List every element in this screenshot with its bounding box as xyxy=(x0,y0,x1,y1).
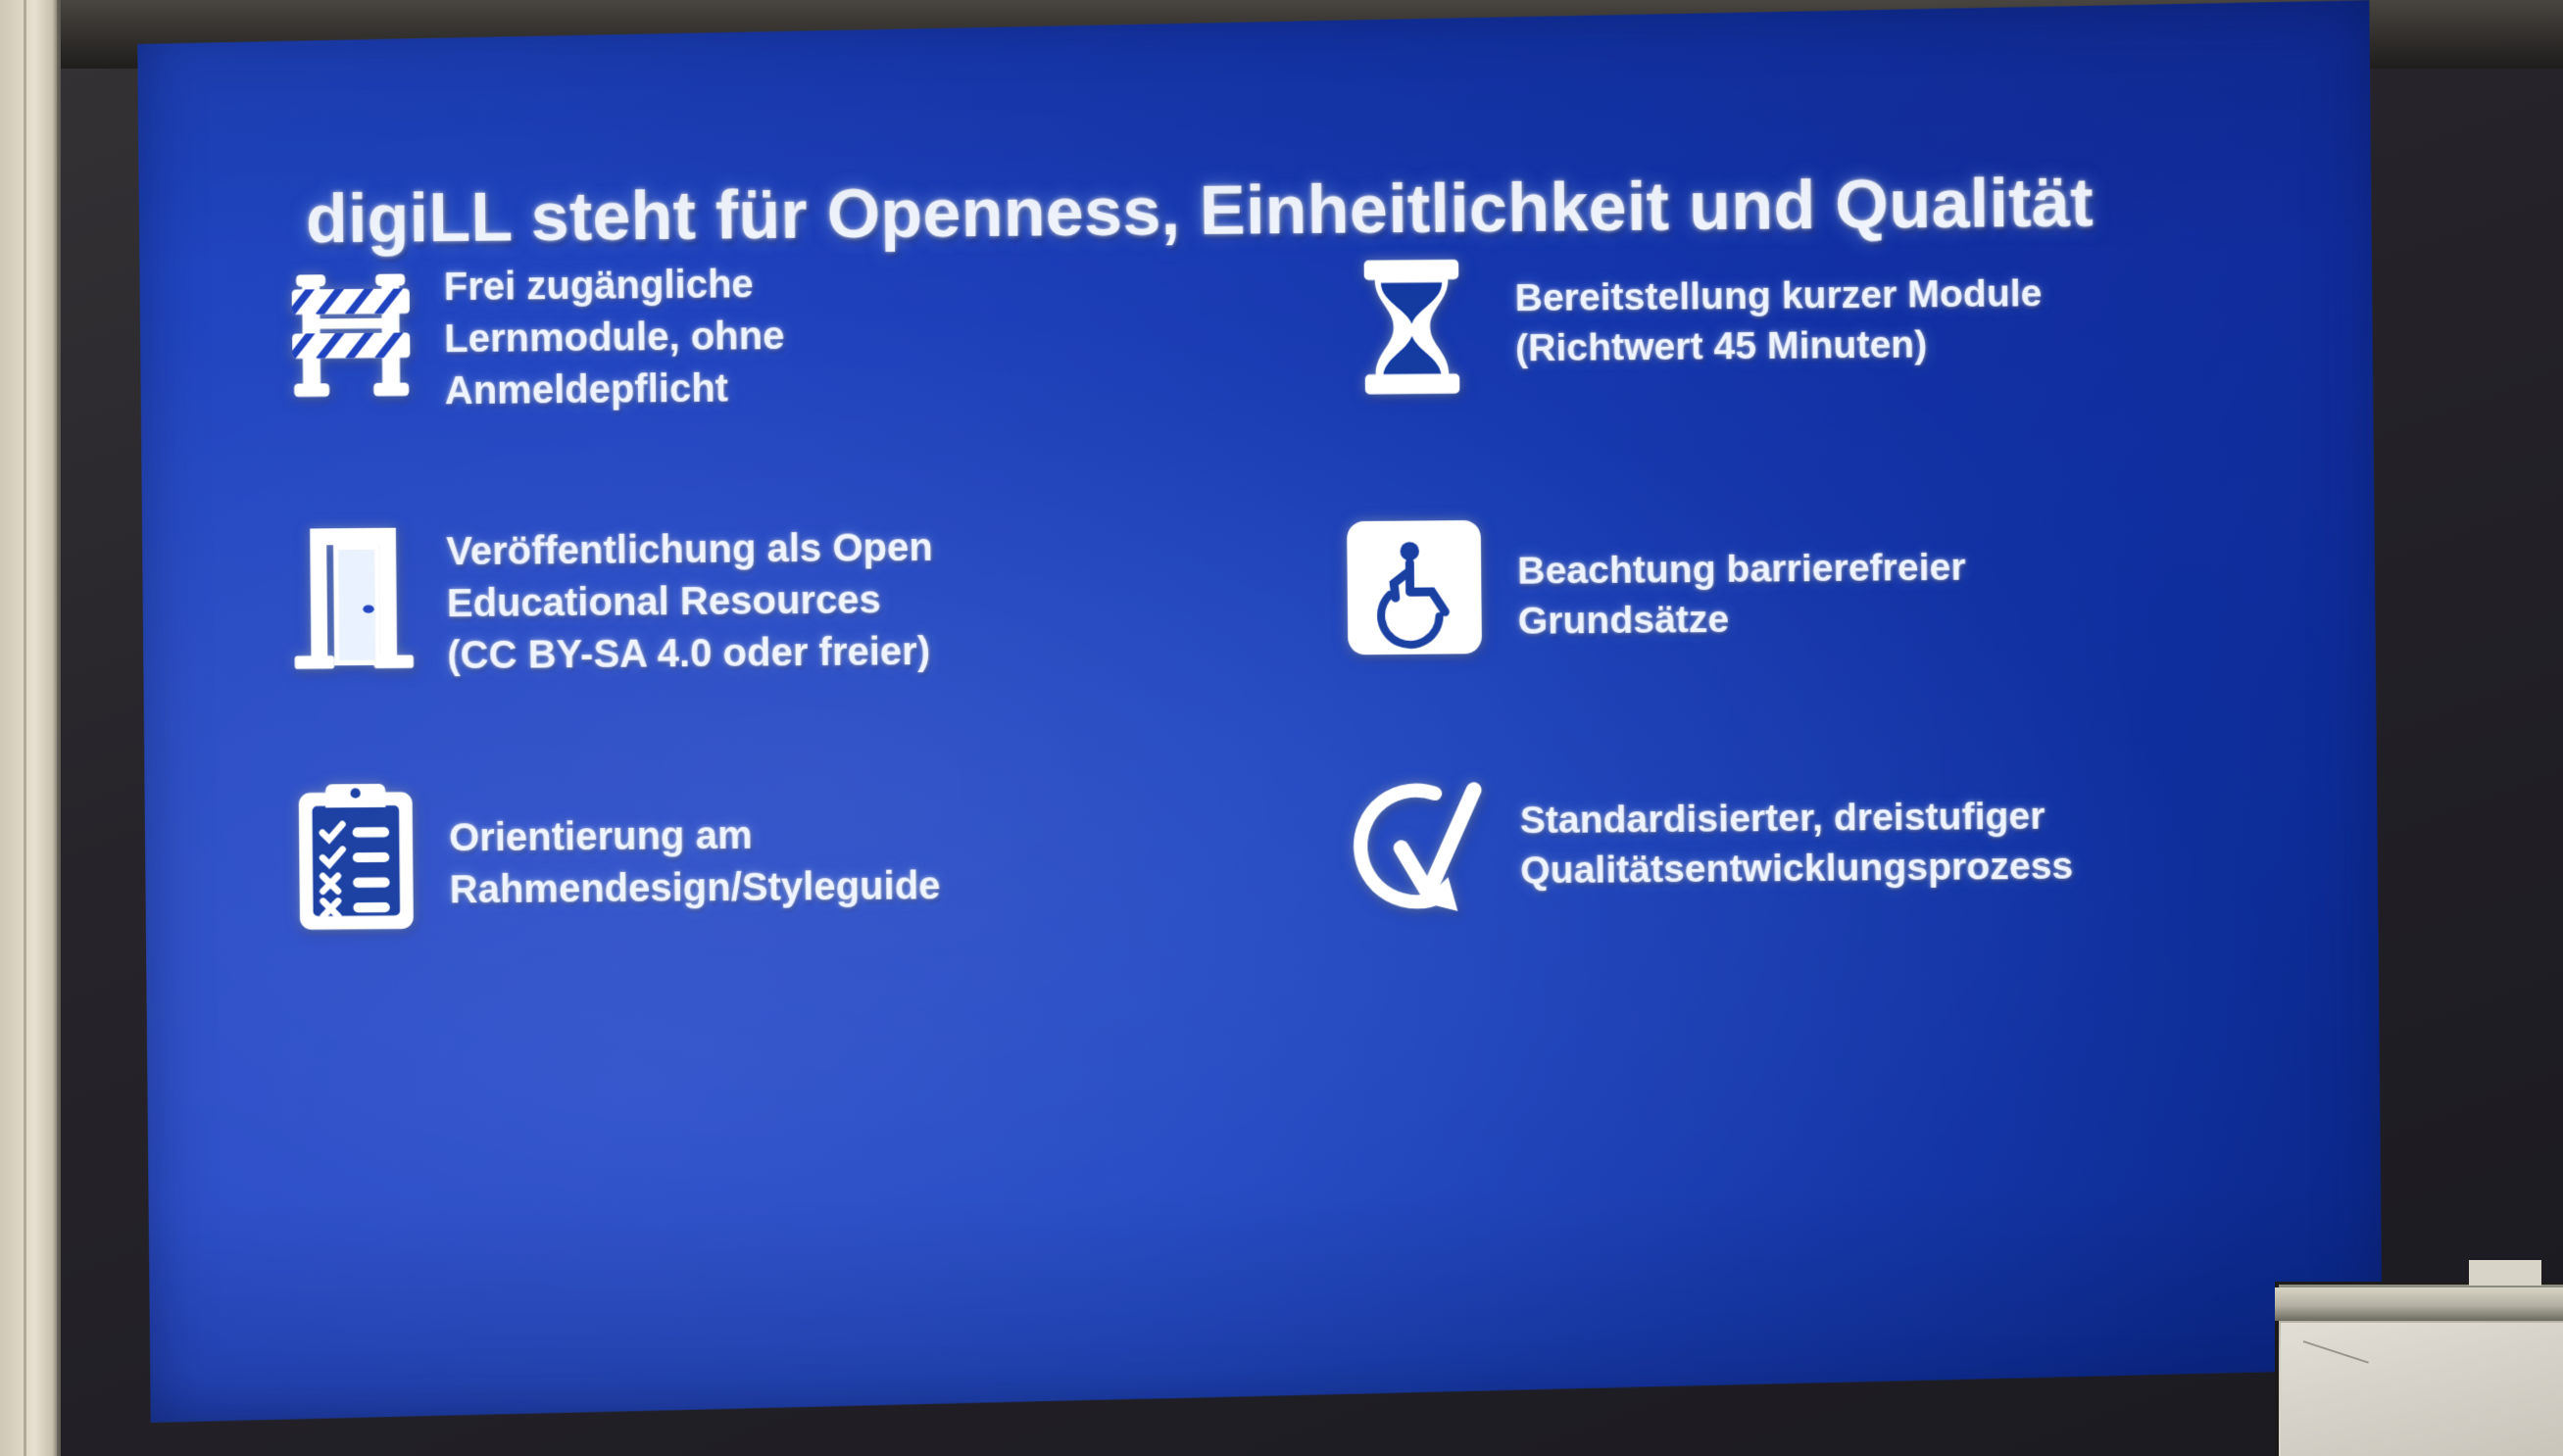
feature-item-short-modules: Bereitstellung kurzer Module (Richtwert … xyxy=(1307,229,2305,500)
feature-item-open-access: Frei zugängliche Lernmodule, ohne Anmeld… xyxy=(257,239,1251,509)
road-barrier-icon xyxy=(257,252,445,420)
flipchart-board xyxy=(2269,1260,2563,1456)
wall-seam xyxy=(24,0,26,1456)
feature-item-label: Bereitstellung kurzer Module (Richtwert … xyxy=(1514,235,2303,375)
projection-room-photo: digiLL steht für Openness, Einheitlichke… xyxy=(0,0,2563,1456)
slide-content-grid: Frei zugängliche Lernmodule, ohne Anmeld… xyxy=(257,229,2310,1030)
flipchart-paper xyxy=(2281,1323,2563,1456)
feature-item-label: Standardisierter, dreistufiger Qualitäts… xyxy=(1519,757,2308,897)
cycle-check-icon xyxy=(1312,764,1520,933)
flipchart-top-edge xyxy=(2469,1260,2541,1286)
flipchart-rail xyxy=(2275,1287,2563,1321)
feature-item-oer-licence: Veröffentlichung als Open Educational Re… xyxy=(260,500,1254,769)
clipboard-checklist-icon xyxy=(262,773,450,942)
feature-item-accessibility: Beachtung barrierefreier Grundsätze xyxy=(1310,490,2308,759)
presentation-slide: digiLL steht für Openness, Einheitlichke… xyxy=(137,0,2383,1423)
open-door-icon xyxy=(260,512,448,681)
feature-item-label: Orientierung am Rahmendesign/Styleguide xyxy=(449,766,1256,916)
hourglass-icon xyxy=(1307,242,1515,411)
feature-item-styleguide: Orientierung am Rahmendesign/Styleguide xyxy=(262,760,1256,1030)
wheelchair-accessibility-icon xyxy=(1310,504,1518,672)
feature-item-label: Veröffentlichung als Open Educational Re… xyxy=(446,506,1253,682)
feature-item-label: Beachtung barrierefreier Grundsätze xyxy=(1517,496,2307,647)
feature-item-label: Frei zugängliche Lernmodule, ohne Anmeld… xyxy=(443,245,1250,417)
feature-item-quality-process: Standardisierter, dreistufiger Qualitäts… xyxy=(1312,752,2310,1021)
wall-strip xyxy=(0,0,57,1456)
